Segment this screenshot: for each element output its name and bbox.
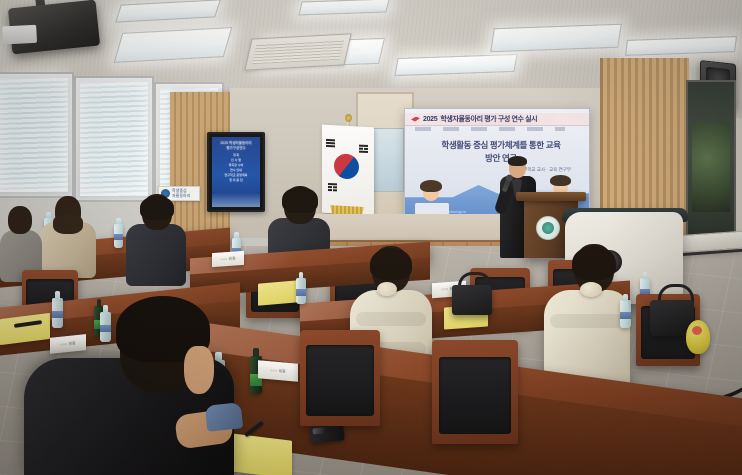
water-bottle (296, 278, 306, 304)
slide-child-illustration (423, 185, 439, 201)
podium-top (516, 192, 586, 201)
monitor-title-line2: 평가구성연수 (215, 146, 257, 151)
wall-display-monitor[interactable]: 2025 학생자율동아리 평가구성연수 개 회 인 사 말 위촉장 수여 연수 … (207, 132, 265, 212)
monitor-screen: 2025 학생자율동아리 평가구성연수 개 회 인 사 말 위촉장 수여 연수 … (212, 137, 260, 207)
attendee-left-1 (40, 196, 96, 276)
attendee-coat (126, 224, 186, 286)
name-tent-text: ○○○ 위원 (270, 368, 285, 374)
banner-logo-icon (411, 117, 420, 122)
window (0, 72, 74, 198)
slide-banner-year: 2025 (423, 116, 437, 123)
window (74, 76, 154, 202)
podium-crest-icon (536, 216, 560, 240)
window-blinds[interactable] (80, 82, 148, 196)
attendee-hair (370, 248, 412, 280)
monitor-agenda-list: 개 회 인 사 말 위촉장 수여 연수 안내 연구학교 운영계획 질 의 응 답 (215, 153, 257, 183)
attendee-hair (282, 187, 318, 213)
slide-banner-title: 학생자율동아리 평가 구성 연수 실시 (440, 114, 537, 124)
hair-scrunchie (377, 282, 397, 296)
presenter-hair (508, 156, 527, 166)
attendee-head (8, 206, 32, 234)
puffer-seam (550, 314, 624, 328)
name-tent: ○○○ 위원 (212, 251, 244, 267)
chair[interactable] (432, 340, 518, 444)
smartphone[interactable] (309, 423, 345, 443)
bag-charm (686, 320, 710, 354)
ceiling-air-vent (244, 33, 351, 70)
slide-headline-line1: 학생활동 중심 평가체계를 통한 교육 (431, 139, 571, 152)
chair[interactable] (300, 330, 380, 426)
attendee-left-3 (126, 194, 186, 284)
water-bottle (620, 300, 631, 328)
taeguk-circle-icon (329, 149, 364, 183)
attendee-face (184, 346, 214, 394)
handbag (452, 285, 492, 315)
attendee-hair (140, 196, 174, 220)
slide-sponsor-logos (415, 127, 565, 131)
ceiling-projector (8, 0, 100, 54)
ceiling-light (114, 27, 233, 63)
monitor-title: 2025 학생자율동아리 평가구성연수 (215, 141, 257, 150)
slide-banner: 2025 학생자율동아리 평가 구성 연수 실시 (405, 113, 589, 126)
agenda-item: 질 의 응 답 (215, 178, 257, 183)
name-tent: ○○○ 위원 (258, 360, 298, 381)
puffer-seam (356, 312, 426, 326)
notepad (258, 280, 298, 305)
attendee-hair (53, 214, 83, 234)
window-blinds[interactable] (0, 78, 68, 192)
conference-room-photo: 2025 학생자율동아리 평가구성연수 개 회 인 사 말 위촉장 수여 연수 … (0, 0, 742, 475)
ceiling-light (490, 24, 622, 52)
attendee-hair (572, 246, 616, 280)
name-tent-text: ○○○ 위원 (220, 256, 235, 262)
water-bottle (114, 224, 123, 248)
hair-scrunchie (580, 282, 602, 297)
attendee-left-2 (0, 206, 42, 278)
attendee-sleeve (205, 402, 244, 432)
podium-crest-inner (542, 222, 554, 234)
attendee-front-1 (24, 300, 244, 475)
